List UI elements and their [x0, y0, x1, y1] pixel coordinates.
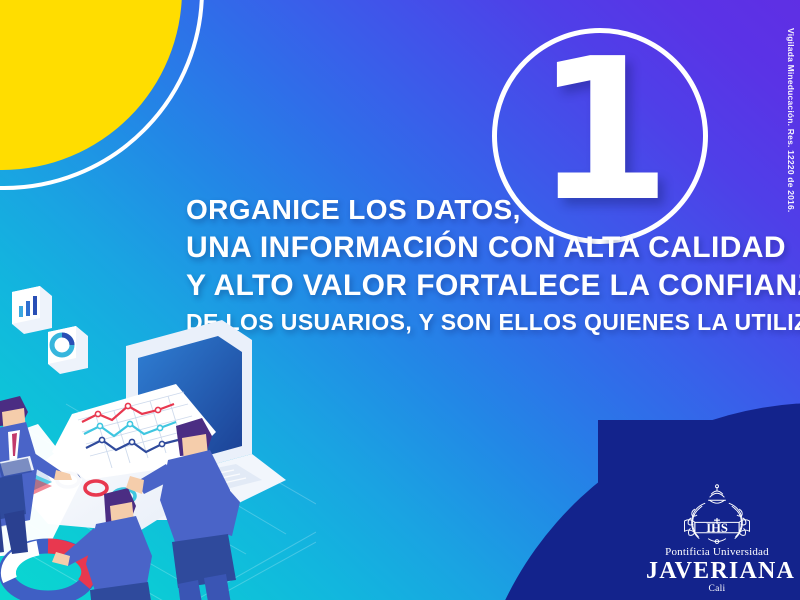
logo-line-3: Cali: [646, 584, 788, 594]
poster-canvas: 1 ORGANICE LOS DATOS, UNA INFORMACIÓN CO…: [0, 0, 800, 600]
headline-line-2: UNA INFORMACIÓN CON ALTA CALIDAD: [186, 229, 746, 267]
white-arc-decoration: [0, 0, 204, 190]
isometric-data-illustration: [0, 284, 316, 600]
logo-line-2: JAVERIANA: [646, 558, 788, 584]
donut-chart-icon: [48, 326, 88, 374]
logo-line-1: Pontificia Universidad: [646, 546, 788, 558]
legal-notice-vertical: Vigilada Mineducación. Res. 12220 de 201…: [786, 28, 796, 212]
crest-wrap: IHS: [646, 484, 788, 546]
bar-chart-icon: [12, 286, 52, 334]
headline-line-1: ORGANICE LOS DATOS,: [186, 191, 746, 229]
university-logo: IHS Pontificia Universidad JAVERIANA Cal…: [646, 484, 788, 590]
javeriana-crest-icon: IHS: [657, 484, 777, 546]
